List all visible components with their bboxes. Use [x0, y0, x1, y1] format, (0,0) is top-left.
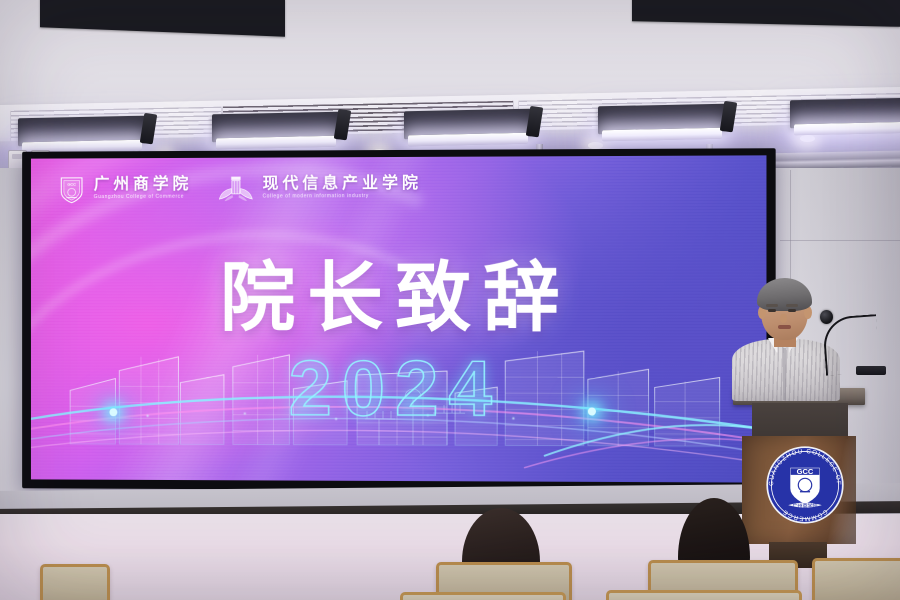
- recessed-downlight: [588, 142, 603, 149]
- seal-name-cn: 广州商学院: [792, 503, 817, 510]
- auditorium-chair[interactable]: [40, 564, 110, 600]
- auditorium-chair-seat[interactable]: [606, 590, 802, 600]
- auditorium-scene: GCC 广州商学院 Guangzhou College of Commerce: [0, 0, 900, 600]
- microphone-base: [856, 366, 886, 375]
- shirt-placket: [783, 348, 786, 400]
- stage-light-fixture: [404, 109, 532, 140]
- auditorium-chair[interactable]: [812, 558, 900, 600]
- recessed-downlight: [800, 135, 815, 142]
- acoustic-ceiling-panel: [632, 0, 900, 27]
- speaker-nose: [780, 314, 787, 323]
- speaker-person: [726, 276, 856, 401]
- stage-light-fixture: [790, 98, 900, 129]
- acoustic-ceiling-panel: [40, 0, 285, 37]
- speaker-brow: [766, 304, 778, 307]
- seal-monogram: GCC: [797, 467, 814, 476]
- college-seal-icon: GUANGZHOU COLLEGE OF COMMERCE GCC 广州商学院: [763, 443, 847, 527]
- speaker-eye: [768, 309, 776, 312]
- stage-light-fixture: [598, 104, 726, 135]
- podium-front-panel: GUANGZHOU COLLEGE OF COMMERCE GCC 广州商学院: [742, 436, 856, 544]
- speaker-mouth: [778, 325, 791, 329]
- led-video-wall: GCC 广州商学院 Guangzhou College of Commerce: [22, 148, 776, 492]
- stage-light-fixture: [18, 116, 146, 147]
- stage-light-fixture: [212, 112, 340, 143]
- led-screen-content: GCC 广州商学院 Guangzhou College of Commerce: [31, 155, 767, 482]
- podium: GUANGZHOU COLLEGE OF COMMERCE GCC 广州商学院: [735, 388, 863, 578]
- speaker-brow: [786, 304, 798, 307]
- led-pixel-moire: [31, 155, 767, 482]
- auditorium-chair-seat[interactable]: [400, 592, 566, 600]
- microphone-capsule: [820, 310, 833, 324]
- podium-neck: [752, 403, 848, 439]
- speaker-eye: [788, 309, 796, 312]
